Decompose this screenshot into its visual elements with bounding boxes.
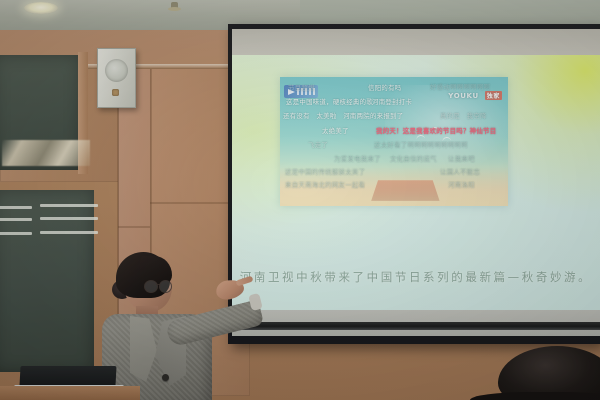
glasses-bridge xyxy=(156,284,160,285)
ceiling-light-icon xyxy=(24,2,58,14)
chalk-mark xyxy=(40,217,98,220)
danmaku-comment: 太绝美了 xyxy=(322,126,349,135)
screen-surface: YOUKU 独家 节目超燃信阳的有吗好感动啊啊啊啊啊啊这是中国味道，硬核经典的歌… xyxy=(232,29,600,336)
channel-badge-icon xyxy=(284,85,318,98)
glasses-icon xyxy=(144,280,172,292)
chalk-mark xyxy=(0,232,32,235)
speaker-knob-icon xyxy=(112,89,119,96)
wall-speaker xyxy=(97,48,136,108)
youku-watermark: YOUKU 独家 xyxy=(448,91,502,100)
video-haze xyxy=(280,162,508,206)
projection-screen: YOUKU 独家 节目超燃信阳的有吗好感动啊啊啊啊啊啊这是中国味道，硬核经典的歌… xyxy=(228,24,600,344)
chalk-mark xyxy=(0,206,32,209)
glasses-lens-left xyxy=(144,280,158,293)
desk-edge xyxy=(0,386,140,400)
blackboard-lower xyxy=(0,190,94,372)
presenter-arm xyxy=(165,299,264,347)
pointing-finger xyxy=(235,276,253,287)
laptop-screen xyxy=(19,366,116,386)
chalk-mark xyxy=(40,204,98,207)
blazer-button xyxy=(162,374,169,381)
badge-bars-icon xyxy=(297,88,315,95)
slide-caption: 河南卫视中秋带来了中国节日系列的最新篇—秋奇妙游。 xyxy=(232,269,600,285)
screenshot-root: YOUKU 独家 节目超燃信阳的有吗好感动啊啊啊啊啊啊这是中国味道，硬核经典的歌… xyxy=(0,0,600,400)
danmaku-comment: 飞走了 xyxy=(308,140,328,149)
danmaku-comment: 这是中国味道，硬核经典的歌 xyxy=(286,97,373,106)
projected-slide: YOUKU 独家 节目超燃信阳的有吗好感动啊啊啊啊啊啊这是中国味道，硬核经典的歌… xyxy=(232,55,600,310)
chalk-mark xyxy=(40,231,98,234)
speaker-cone-icon xyxy=(105,59,128,82)
ledge-papers xyxy=(2,140,90,166)
presenter xyxy=(96,252,266,400)
play-arrow-icon xyxy=(288,89,295,95)
glasses-lens-right xyxy=(159,280,172,293)
audience-member-shoulder xyxy=(470,392,600,400)
youku-tag: 独家 xyxy=(485,91,502,100)
screen-top-band xyxy=(232,29,600,55)
screen-bottom-rail xyxy=(232,322,600,330)
wall-seam xyxy=(118,226,150,228)
youku-wordmark: YOUKU xyxy=(448,92,478,100)
video-player[interactable]: YOUKU 独家 节目超燃信阳的有吗好感动啊啊啊啊啊啊这是中国味道，硬核经典的歌… xyxy=(280,77,508,206)
sprinkler-icon xyxy=(168,2,181,14)
chalk-mark xyxy=(0,218,32,221)
